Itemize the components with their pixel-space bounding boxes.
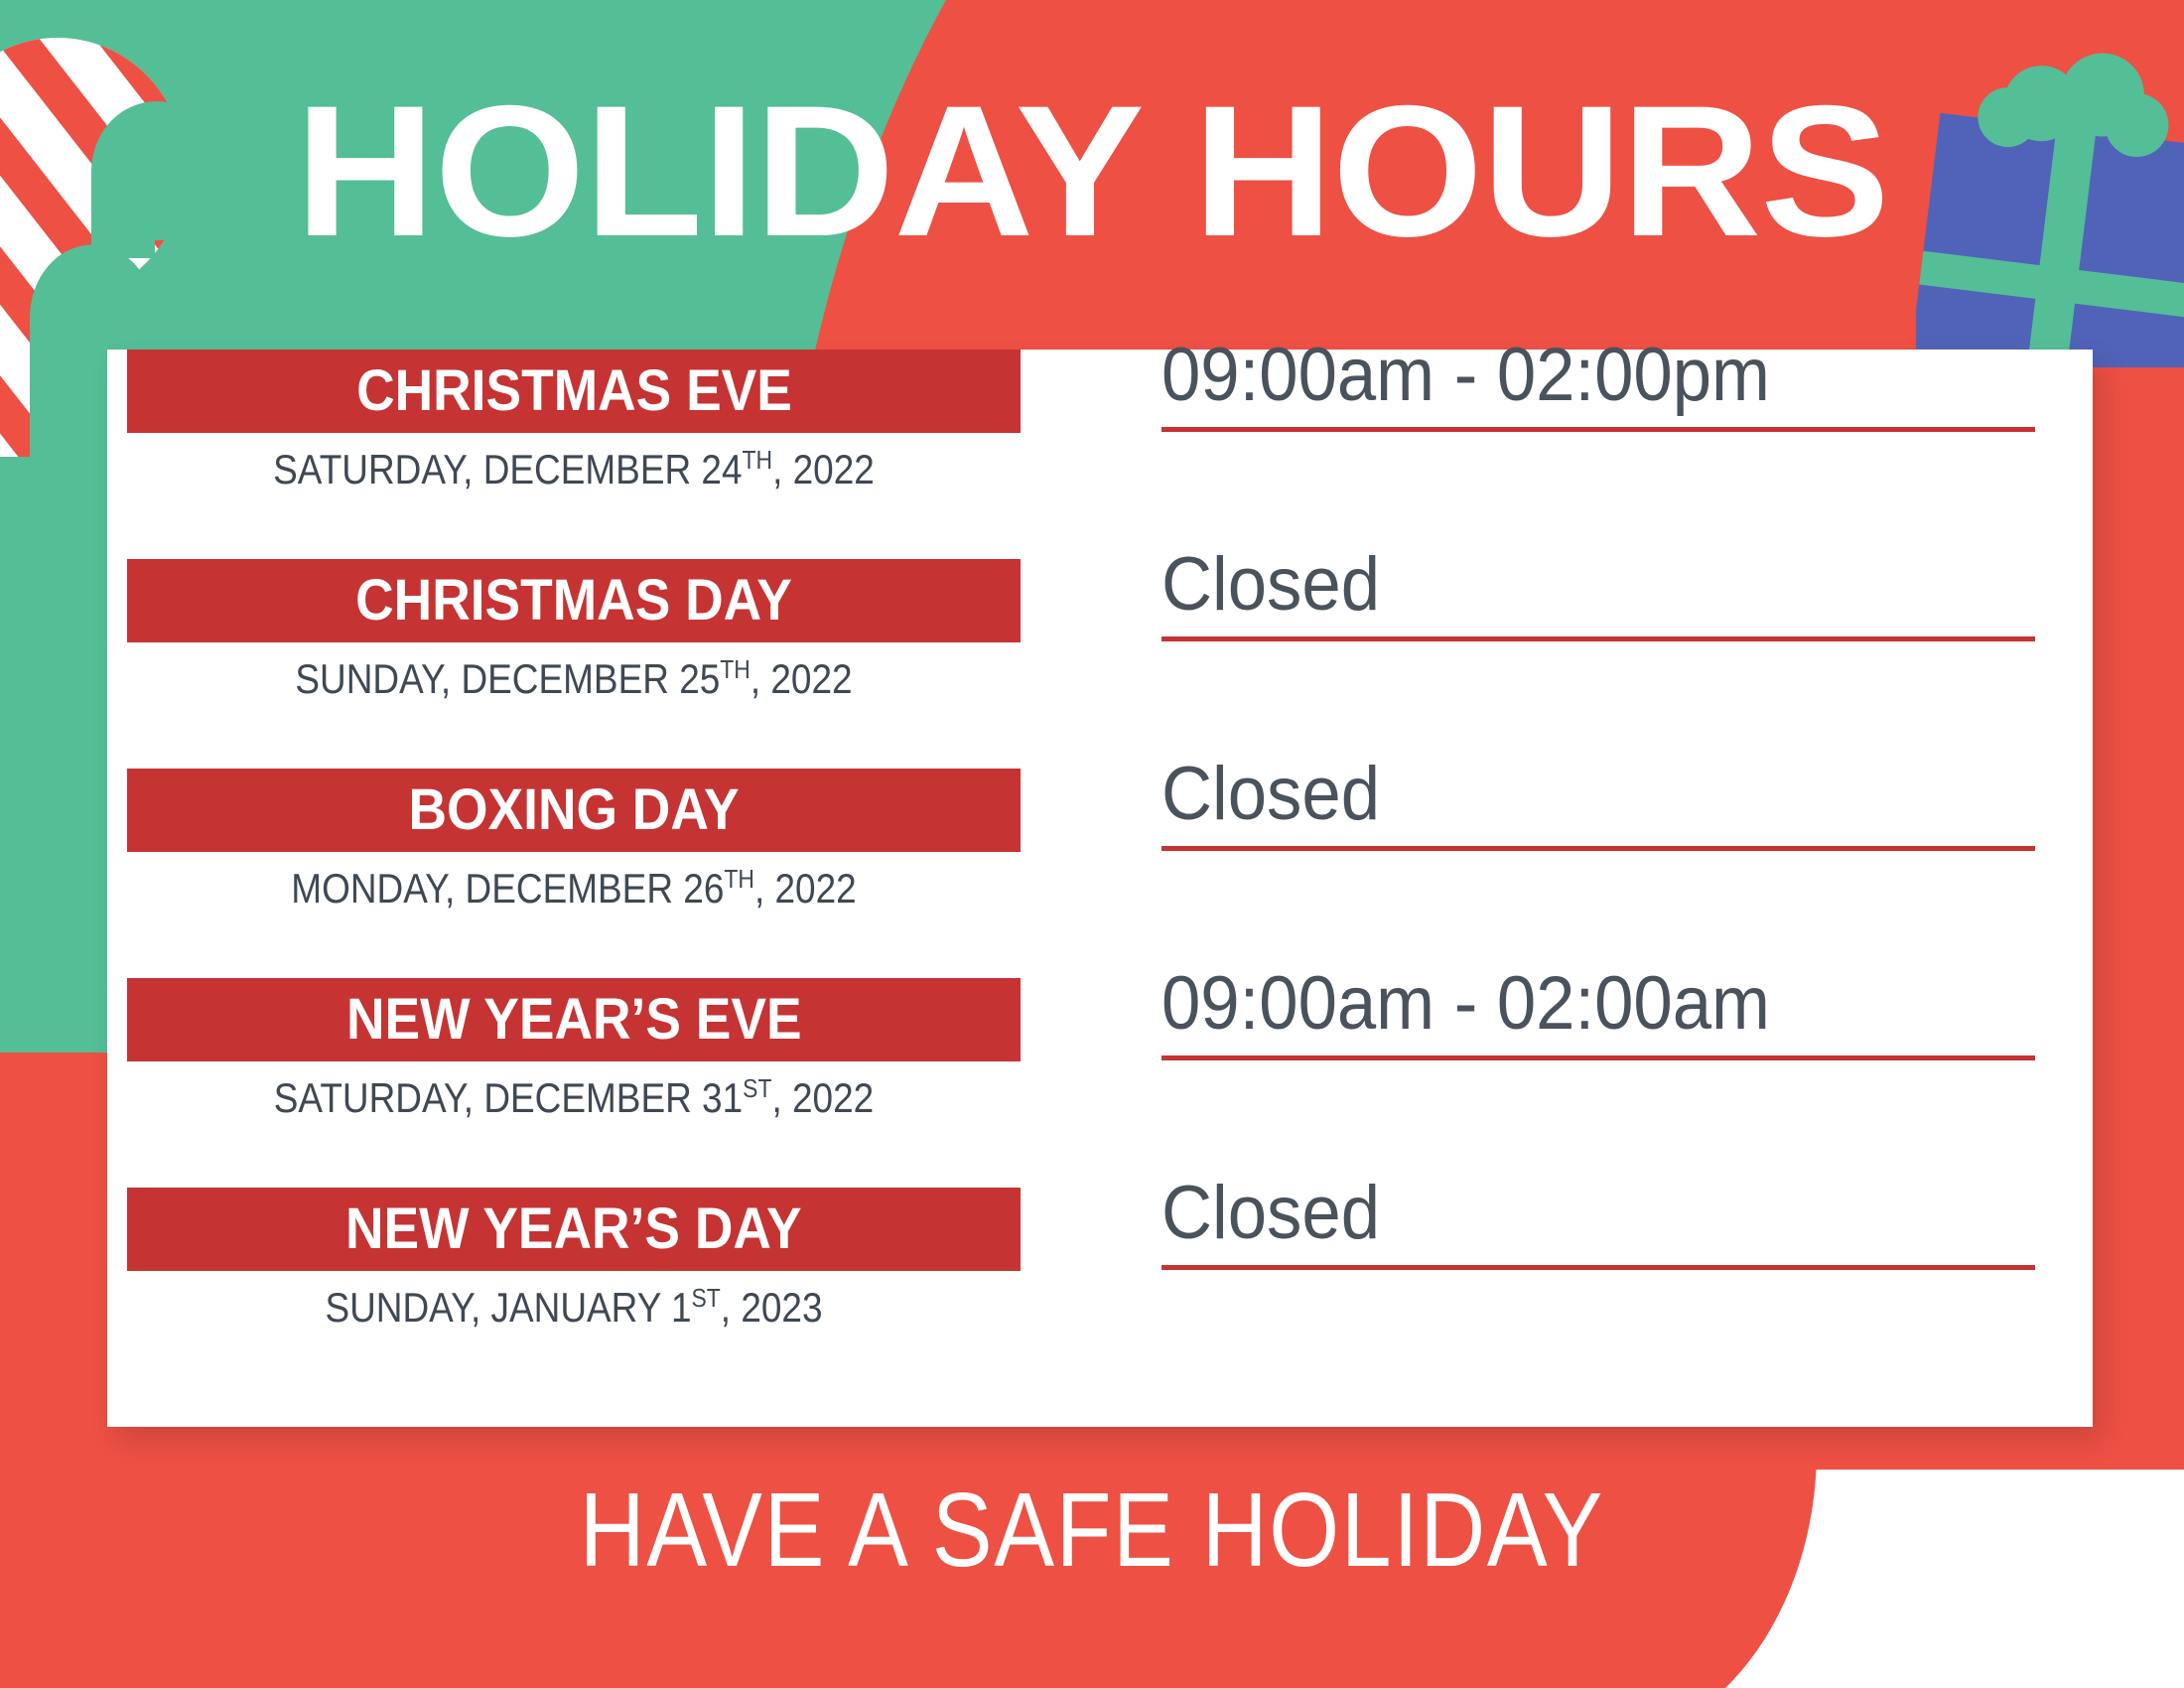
page-title: HOLIDAY HOURS <box>0 77 2184 264</box>
date-ordinal: TH <box>724 864 754 894</box>
date-ordinal: TH <box>720 654 751 684</box>
holiday-name: NEW YEAR’S EVE <box>346 991 802 1049</box>
row-label-column: CHRISTMAS DAY SUNDAY, DECEMBER 25TH, 202… <box>127 559 1021 700</box>
date-prefix: MONDAY, DECEMBER 26 <box>291 865 724 912</box>
table-row: BOXING DAY MONDAY, DECEMBER 26TH, 2022 C… <box>107 769 2093 978</box>
holiday-name-banner: BOXING DAY <box>127 769 1021 852</box>
holiday-name: CHRISTMAS DAY <box>355 572 792 630</box>
table-row: NEW YEAR’S DAY SUNDAY, JANUARY 1ST, 2023… <box>107 1188 2093 1416</box>
hours-underline <box>1161 1265 2035 1270</box>
holiday-date: SUNDAY, DECEMBER 25TH, 2022 <box>181 656 967 700</box>
hours-underline <box>1161 846 2035 851</box>
holiday-hours: Closed <box>1161 537 1974 633</box>
date-prefix: SUNDAY, DECEMBER 25 <box>295 655 720 702</box>
row-hours-column: Closed <box>1161 1166 2035 1270</box>
holiday-name-banner: NEW YEAR’S DAY <box>127 1188 1021 1271</box>
holiday-date: SUNDAY, JANUARY 1ST, 2023 <box>181 1285 967 1329</box>
date-suffix: , 2023 <box>721 1284 823 1331</box>
holiday-date: SATURDAY, DECEMBER 24TH, 2022 <box>181 447 967 491</box>
date-ordinal: TH <box>743 445 773 475</box>
row-hours-column: 09:00am - 02:00am <box>1161 956 2035 1060</box>
row-hours-column: 09:00am - 02:00pm <box>1161 328 2035 432</box>
table-row: NEW YEAR’S EVE SATURDAY, DECEMBER 31ST, … <box>107 978 2093 1188</box>
hours-row-list: CHRISTMAS EVE SATURDAY, DECEMBER 24TH, 2… <box>107 350 2093 1416</box>
footer-message: HAVE A SAFE HOLIDAY <box>153 1477 2031 1583</box>
holiday-hours: Closed <box>1161 747 1974 842</box>
holiday-date: MONDAY, DECEMBER 26TH, 2022 <box>181 866 967 910</box>
hours-card: CHRISTMAS EVE SATURDAY, DECEMBER 24TH, 2… <box>107 350 2093 1427</box>
holiday-date: SATURDAY, DECEMBER 31ST, 2022 <box>181 1075 967 1119</box>
holiday-name-banner: NEW YEAR’S EVE <box>127 978 1021 1061</box>
table-row: CHRISTMAS DAY SUNDAY, DECEMBER 25TH, 202… <box>107 559 2093 769</box>
hours-underline <box>1161 636 2035 641</box>
date-ordinal: ST <box>743 1073 771 1103</box>
row-label-column: NEW YEAR’S DAY SUNDAY, JANUARY 1ST, 2023 <box>127 1188 1021 1329</box>
holiday-name: BOXING DAY <box>408 781 739 839</box>
row-hours-column: Closed <box>1161 747 2035 851</box>
row-label-column: BOXING DAY MONDAY, DECEMBER 26TH, 2022 <box>127 769 1021 910</box>
holiday-name: CHRISTMAS EVE <box>356 362 792 420</box>
date-prefix: SUNDAY, JANUARY 1 <box>325 1284 691 1331</box>
row-label-column: NEW YEAR’S EVE SATURDAY, DECEMBER 31ST, … <box>127 978 1021 1119</box>
holiday-hours-poster: HOLIDAY HOURS CHRISTMAS EVE SATURDAY, DE… <box>0 0 2184 1688</box>
date-prefix: SATURDAY, DECEMBER 31 <box>274 1074 743 1121</box>
date-prefix: SATURDAY, DECEMBER 24 <box>273 446 742 492</box>
row-label-column: CHRISTMAS EVE SATURDAY, DECEMBER 24TH, 2… <box>127 350 1021 491</box>
hours-underline <box>1161 1055 2035 1060</box>
holiday-name: NEW YEAR’S DAY <box>345 1200 802 1258</box>
holiday-hours: 09:00am - 02:00pm <box>1161 328 1974 423</box>
table-row: CHRISTMAS EVE SATURDAY, DECEMBER 24TH, 2… <box>107 350 2093 559</box>
date-suffix: , 2022 <box>772 446 875 492</box>
hours-underline <box>1161 427 2035 432</box>
holiday-hours: 09:00am - 02:00am <box>1161 956 1974 1052</box>
holiday-hours: Closed <box>1161 1166 1974 1261</box>
holiday-name-banner: CHRISTMAS DAY <box>127 559 1021 642</box>
row-hours-column: Closed <box>1161 537 2035 641</box>
date-suffix: , 2022 <box>754 865 857 912</box>
date-ordinal: ST <box>692 1283 721 1313</box>
date-suffix: , 2022 <box>751 655 853 702</box>
date-suffix: , 2022 <box>771 1074 874 1121</box>
holiday-name-banner: CHRISTMAS EVE <box>127 350 1021 433</box>
